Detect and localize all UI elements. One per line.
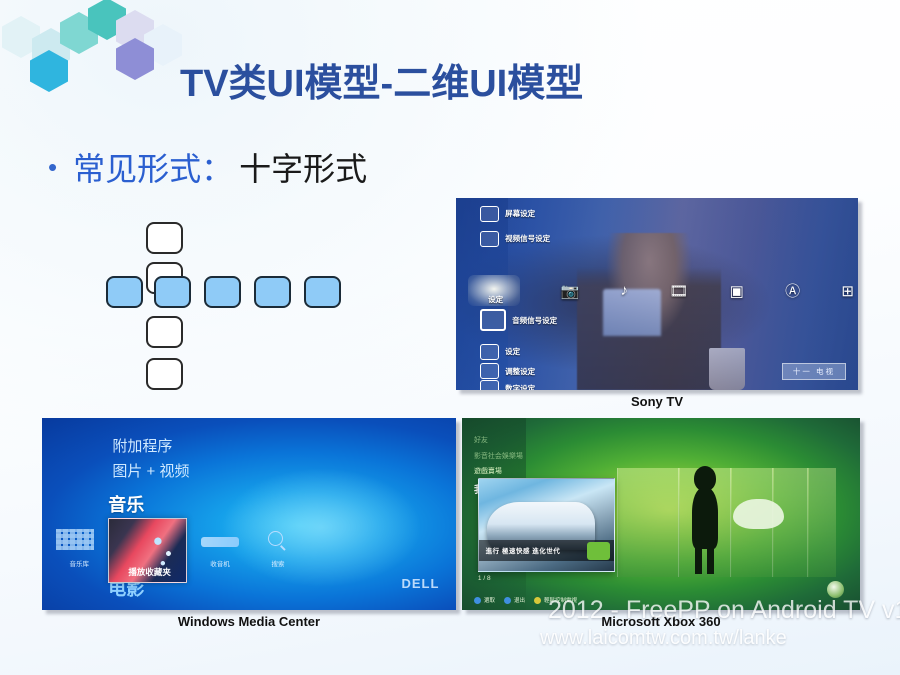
analog-settings-icon bbox=[480, 363, 499, 379]
sony-caption: Sony TV bbox=[456, 394, 858, 409]
wmc-sub-label-search: 搜索 bbox=[249, 558, 307, 568]
hexagon-cluster-logo bbox=[2, 0, 152, 80]
sony-menu-item-4[interactable]: 设定 bbox=[480, 344, 520, 360]
xbox-button-hint-select[interactable]: 選取 bbox=[474, 596, 495, 604]
xbox-menu-item-friends[interactable]: 好友 bbox=[474, 435, 488, 445]
sony-menu-label: 数字设定 bbox=[505, 383, 535, 390]
wmc-menu-item-music[interactable]: 音乐 bbox=[108, 491, 144, 517]
watermark-line-1: 2012 - FreePP on Android TV v1.X UI bbox=[548, 596, 900, 625]
sony-menu-label: 调整设定 bbox=[505, 366, 535, 377]
digital-settings-icon bbox=[480, 380, 499, 390]
xbox-featured-card[interactable]: 進行 極速快感 進化世代 bbox=[478, 478, 615, 572]
sony-xmb-icon-row: 📷 ♪ 🎞 ▣ Ⓐ ⊞ bbox=[561, 281, 854, 301]
diagram-box-h3 bbox=[204, 276, 241, 308]
xbox-menu-item-game-market[interactable]: 遊戲賣場 bbox=[474, 466, 502, 476]
wmc-glow bbox=[208, 460, 436, 594]
xbox-shot: 好友 影音社会娛樂場 遊戲賣場 我的 Xbox 進行 極速快感 進化世代 1 /… bbox=[462, 418, 860, 610]
music-icon[interactable]: ♪ bbox=[620, 282, 628, 299]
bullet-text-secondary: 十字形式 bbox=[239, 144, 367, 190]
xbox-card-badge-icon bbox=[587, 542, 610, 560]
xbox-tile[interactable] bbox=[617, 468, 680, 577]
diagram-box-h5 bbox=[304, 276, 341, 308]
wmc-shot: 附加程序 图片 + 视频 音乐 电影 音乐库 播放收藏夹 收音机 搜索 DELL bbox=[42, 418, 456, 610]
search-icon[interactable] bbox=[268, 531, 283, 546]
sony-menu-item-5[interactable]: 调整设定 bbox=[480, 363, 535, 379]
presentation-slide: TV类UI模型-二维UI模型 • 常见形式： 十字形式 屏幕设定 bbox=[0, 0, 900, 675]
xbox-controller-graphic bbox=[733, 499, 785, 530]
audio-signal-icon bbox=[480, 309, 506, 331]
y-button-icon bbox=[534, 597, 541, 604]
slide-title: TV类UI模型-二维UI模型 bbox=[180, 52, 820, 107]
camera-icon[interactable]: 📷 bbox=[561, 282, 580, 300]
diagram-box-v4 bbox=[146, 358, 183, 390]
xbox-card-counter: 1 / 8 bbox=[478, 575, 491, 582]
avatar-left-leg bbox=[695, 542, 701, 574]
xbox-button-hint-label: 選取 bbox=[484, 596, 495, 604]
watermark-line-2: www.laicomtw.com.tw/lanke bbox=[540, 627, 787, 650]
cross-layout-diagram bbox=[28, 196, 448, 411]
diagram-box-h1 bbox=[106, 276, 143, 308]
sony-tv-shot: 屏幕设定 视频信号设定 设定 音频信号设定 设定 调整设定 bbox=[456, 198, 858, 390]
video-signal-icon bbox=[480, 231, 499, 247]
wmc-sub-label-library: 音乐库 bbox=[54, 558, 104, 568]
wmc-menu-item-pictures-videos[interactable]: 图片 + 视频 bbox=[112, 460, 189, 481]
xbox-button-hint-label: 退出 bbox=[514, 596, 525, 604]
wmc-sub-label-playlists: 播放收藏夹 bbox=[100, 566, 199, 578]
digital-icon[interactable]: ▣ bbox=[730, 282, 744, 300]
wmc-menu-item-extras[interactable]: 附加程序 bbox=[112, 435, 172, 456]
bullet-text-primary: 常见形式： bbox=[73, 144, 233, 190]
diagram-box-v1 bbox=[146, 222, 183, 254]
bullet-line: • 常见形式： 十字形式 bbox=[48, 144, 367, 190]
sony-menu-item-6[interactable]: 数字设定 bbox=[480, 380, 535, 390]
sony-tv-screenshot: 屏幕设定 视频信号设定 设定 音频信号设定 设定 调整设定 bbox=[456, 198, 858, 390]
settings-icon bbox=[480, 344, 499, 360]
xbox-360-screenshot: 好友 影音社会娛樂場 遊戲賣場 我的 Xbox 進行 極速快感 進化世代 1 /… bbox=[462, 418, 860, 610]
wmc-music-library-tile[interactable] bbox=[56, 529, 93, 550]
sony-channel-tag: 十一 电视 bbox=[782, 363, 846, 380]
sony-menu-label: 视频信号设定 bbox=[505, 233, 550, 244]
bullet-dot-icon: • bbox=[48, 154, 57, 180]
xbox-tile[interactable] bbox=[807, 468, 837, 577]
sony-menu-item-3[interactable]: 音频信号设定 bbox=[480, 309, 557, 331]
film-icon[interactable]: 🎞 bbox=[669, 282, 688, 300]
sony-menu-label: 设定 bbox=[488, 294, 503, 305]
sony-menu-item-2[interactable]: 设定 bbox=[488, 294, 503, 305]
sony-menu-label: 音频信号设定 bbox=[512, 315, 557, 326]
avatar-body bbox=[692, 488, 717, 549]
a-button-icon bbox=[474, 597, 481, 604]
wmc-radio-tile[interactable] bbox=[201, 537, 238, 547]
sony-menu-label: 屏幕设定 bbox=[505, 208, 535, 219]
analog-icon[interactable]: Ⓐ bbox=[785, 280, 800, 301]
wmc-caption: Windows Media Center bbox=[42, 614, 456, 629]
sony-menu-label: 设定 bbox=[505, 346, 520, 357]
input-icon[interactable]: ⊞ bbox=[841, 282, 854, 300]
diagram-box-h4 bbox=[254, 276, 291, 308]
xbox-menu-item-media[interactable]: 影音社会娛樂場 bbox=[474, 451, 523, 461]
dell-logo: DELL bbox=[402, 576, 440, 591]
windows-media-center-screenshot: 附加程序 图片 + 视频 音乐 电影 音乐库 播放收藏夹 收音机 搜索 DELL… bbox=[42, 418, 456, 610]
wmc-sub-label-radio: 收音机 bbox=[191, 558, 249, 568]
b-button-icon bbox=[504, 597, 511, 604]
sony-menu-item-0[interactable]: 屏幕设定 bbox=[480, 206, 535, 222]
screen-settings-icon bbox=[480, 206, 499, 222]
diagram-box-h2 bbox=[154, 276, 191, 308]
diagram-box-v3 bbox=[146, 316, 183, 348]
xbox-avatar bbox=[685, 466, 725, 572]
sony-menu-item-1[interactable]: 视频信号设定 bbox=[480, 231, 550, 247]
xbox-button-hint-exit[interactable]: 退出 bbox=[504, 596, 525, 604]
avatar-right-leg bbox=[707, 542, 713, 574]
